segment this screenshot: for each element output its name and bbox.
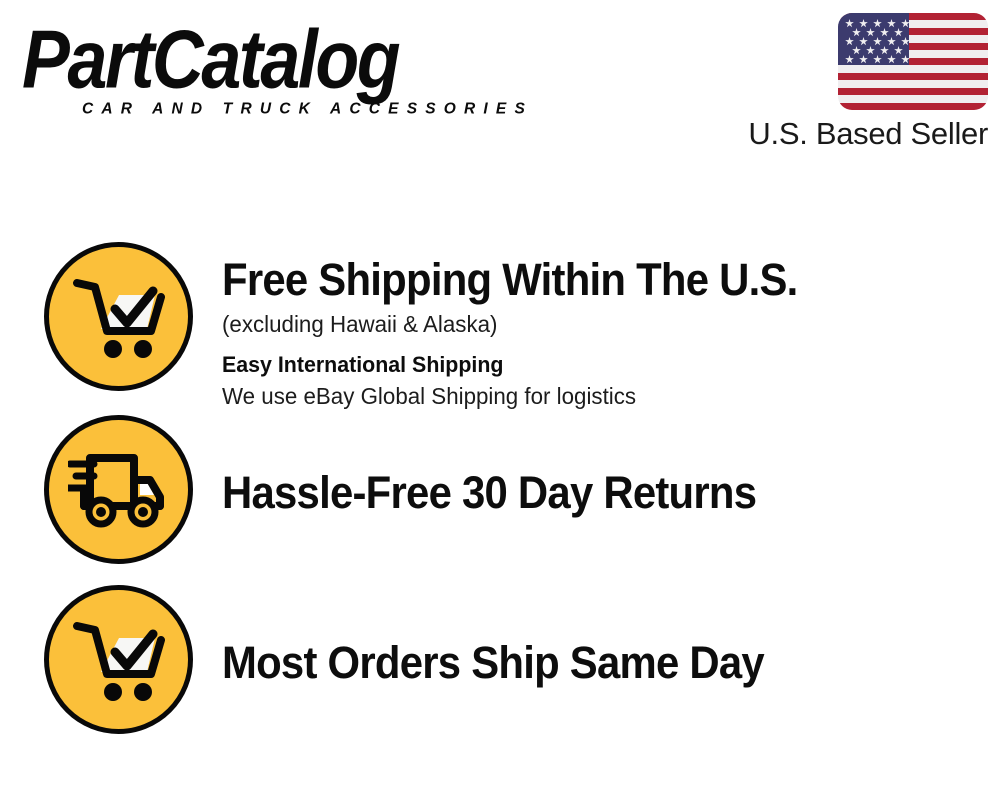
- feature-title: Hassle-Free 30 Day Returns: [222, 467, 938, 519]
- shopping-cart-check-icon: [44, 242, 193, 391]
- feature-secondary-subtitle: We use eBay Global Shipping for logistic…: [222, 381, 954, 412]
- delivery-truck-icon: [44, 415, 193, 564]
- page-header: PartCatalog CAR AND TRUCK ACCESSORIES: [0, 0, 1000, 180]
- feature-text-block: Hassle-Free 30 Day Returns: [222, 467, 992, 519]
- us-based-seller-label: U.S. Based Seller: [748, 116, 988, 152]
- feature-subtitle: (excluding Hawaii & Alaska): [222, 309, 954, 340]
- feature-text-block: Most Orders Ship Same Day: [222, 637, 992, 689]
- us-flag-icon: [838, 13, 988, 110]
- shopping-cart-check-icon: [44, 585, 193, 734]
- brand-tagline: CAR AND TRUCK ACCESSORIES: [82, 100, 533, 118]
- feature-title: Free Shipping Within The U.S.: [222, 254, 938, 306]
- feature-text-block: Free Shipping Within The U.S. (excluding…: [222, 254, 992, 412]
- flag-canton: [838, 13, 909, 65]
- feature-secondary-title: Easy International Shipping: [222, 350, 954, 380]
- feature-title: Most Orders Ship Same Day: [222, 637, 938, 689]
- brand-wordmark: PartCatalog: [22, 16, 398, 103]
- brand-logo: PartCatalog CAR AND TRUCK ACCESSORIES: [22, 16, 492, 116]
